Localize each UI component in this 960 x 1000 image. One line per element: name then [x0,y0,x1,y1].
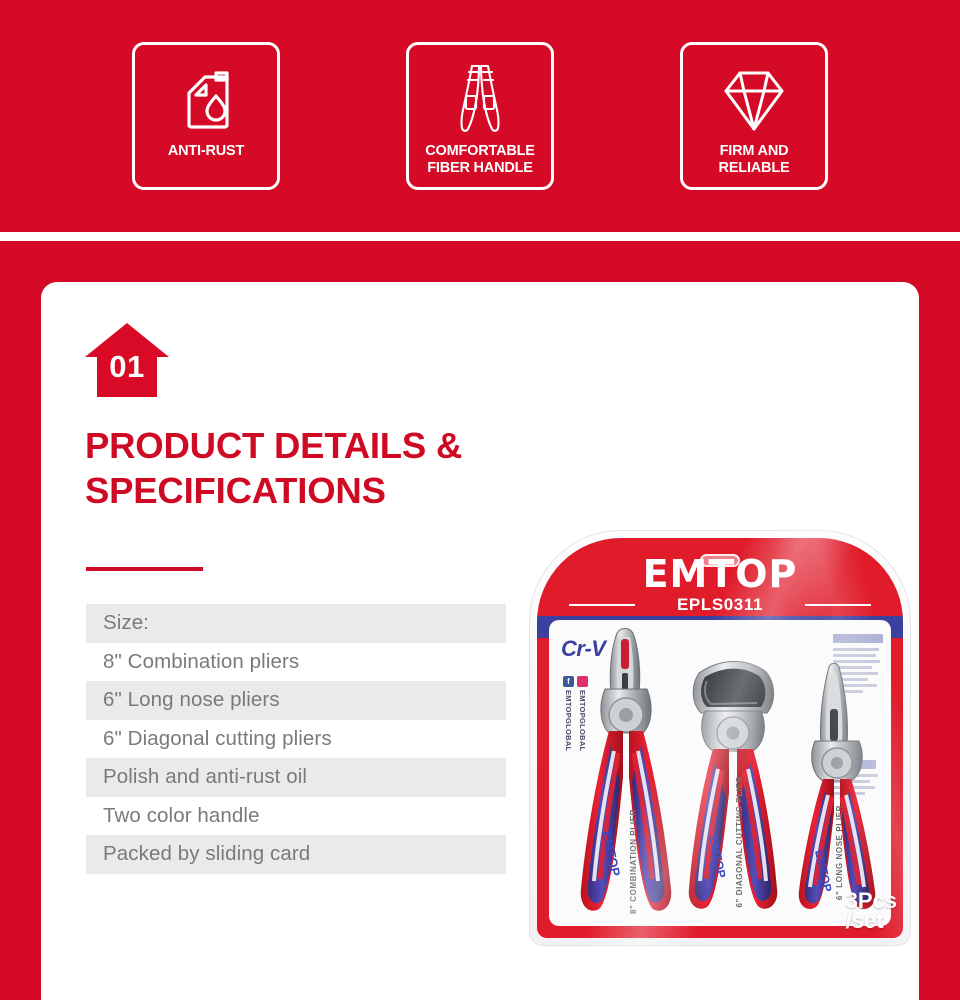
tool-label: 6" LONG NOSE PLIER [835,805,844,900]
feature-badge-fiber-handle: COMFORTABLE FIBER HANDLE [406,42,554,190]
tool-diagonal-cutting-pliers: EMTOP 6" DIAGONAL CUTTING PLIER [681,651,791,922]
step-number-badge: 01 [83,321,171,399]
spec-row: Packed by sliding card [86,835,506,874]
feature-badge-band: ANTI-RUST COMFORTABLE FIBER HANDLE [0,0,960,232]
content-card: 01 PRODUCT DETAILS & SPECIFICATIONS Size… [41,282,919,1000]
brand-logo: EMTOP [537,555,903,593]
step-number: 01 [83,351,171,382]
tool-label: 8" COMBINATION PLIER [629,809,638,914]
heading-underline [86,567,203,571]
plier-handles-icon [445,61,515,139]
blister-backing-card: EMTOP EPLS0311 3PCS PLIERS SET Cr-V [537,538,903,938]
spec-row: Size: [86,604,506,643]
feature-badge-label: COMFORTABLE FIBER HANDLE [409,143,551,176]
feature-badge-anti-rust: ANTI-RUST [132,42,280,190]
tool-label: 6" DIAGONAL CUTTING PLIER [735,776,744,908]
product-detail-page: ANTI-RUST COMFORTABLE FIBER HANDLE [0,0,960,1000]
oil-can-icon [175,61,237,139]
feature-badge-label: FIRM AND RELIABLE [683,143,825,176]
feature-badge-label: ANTI-RUST [135,143,277,160]
band-separator [0,232,960,241]
tool-long-nose-pliers: EMTOP 6" LONG NOSE PLIER [785,663,889,920]
pcs-per-set-badge: 3Pcs /set [846,891,897,932]
spec-row: 6" Diagonal cutting pliers [86,720,506,759]
spec-row: Polish and anti-rust oil [86,758,506,797]
product-image: EMTOP EPLS0311 3PCS PLIERS SET Cr-V [525,528,915,948]
page-title: PRODUCT DETAILS & SPECIFICATIONS [85,424,605,513]
specification-list: Size: 8" Combination pliers 6" Long nose… [86,604,506,874]
spec-row: Two color handle [86,797,506,836]
spec-row: 8" Combination pliers [86,643,506,682]
blister-pack: EMTOP EPLS0311 3PCS PLIERS SET Cr-V [525,528,915,948]
product-window: Cr-V f EMTOPGLOBAL EMTOPGLOBAL [549,620,891,926]
feature-badge-firm-reliable: FIRM AND RELIABLE [680,42,828,190]
spec-row: 6" Long nose pliers [86,681,506,720]
tool-combination-pliers: EMTOP 8" COMBINATION PLIER [565,627,685,924]
pcs-unit: /set [846,911,897,932]
diamond-icon [718,61,790,139]
product-model-code: EPLS0311 [537,596,903,613]
